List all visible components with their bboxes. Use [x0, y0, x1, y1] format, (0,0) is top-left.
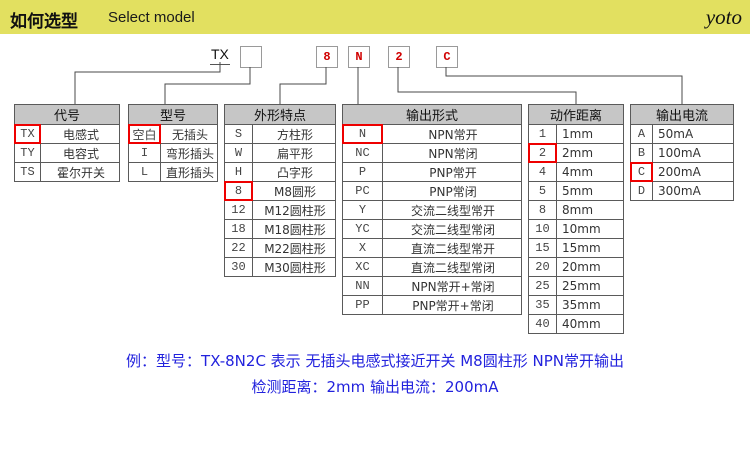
cell-desc: 交流二线型常闭: [383, 220, 522, 239]
brand-logo: yoto: [706, 5, 742, 30]
cell-desc: 交流二线型常开: [383, 201, 522, 220]
cell-desc: 300mA: [653, 182, 734, 201]
table-row: 35 35mm: [529, 296, 624, 315]
cell-desc: 4mm: [557, 163, 624, 182]
cell-code[interactable]: L: [129, 163, 161, 182]
cell-code[interactable]: 2: [529, 144, 557, 163]
code-box-shape: 8: [316, 46, 338, 68]
cell-code[interactable]: 15: [529, 239, 557, 258]
table-row: TS 霍尔开关: [15, 163, 120, 182]
table-body-output: N NPN常开 NC NPN常闭 P PNP常开 PC PNP常闭 Y 交流二线…: [343, 125, 522, 315]
cell-desc: 扁平形: [253, 144, 336, 163]
cell-code[interactable]: TS: [15, 163, 41, 182]
table-row: 30 M30圆柱形: [225, 258, 336, 277]
spec-table-output: 输出形式 N NPN常开 NC NPN常闭 P PNP常开 PC PNP常闭 Y…: [342, 104, 522, 315]
page-title-en: Select model: [108, 9, 195, 26]
spec-table-current: 输出电流 A 50mA B 100mA C 200mA D 300mA: [630, 104, 734, 201]
table-header-current: 输出电流: [631, 105, 734, 125]
cell-code[interactable]: Y: [343, 201, 383, 220]
table-header-output: 输出形式: [343, 105, 522, 125]
cell-code[interactable]: 5: [529, 182, 557, 201]
table-row: NC NPN常闭: [343, 144, 522, 163]
table-row: P PNP常开: [343, 163, 522, 182]
cell-code[interactable]: 8: [225, 182, 253, 201]
cell-desc: M22圆柱形: [253, 239, 336, 258]
code-box-model: [240, 46, 262, 68]
cell-code[interactable]: C: [631, 163, 653, 182]
cell-desc: 8mm: [557, 201, 624, 220]
table-row: W 扁平形: [225, 144, 336, 163]
cell-desc: 10mm: [557, 220, 624, 239]
table-row: 4 4mm: [529, 163, 624, 182]
table-row: D 300mA: [631, 182, 734, 201]
example-line-1: 例：型号：TX-8N2C 表示 无插头电感式接近开关 M8圆柱形 NPN常开输出: [0, 348, 750, 374]
table-row: X 直流二线型常开: [343, 239, 522, 258]
cell-desc: M30圆柱形: [253, 258, 336, 277]
table-row: 1 1mm: [529, 125, 624, 144]
table-row: XC 直流二线型常闭: [343, 258, 522, 277]
example-block: 例：型号：TX-8N2C 表示 无插头电感式接近开关 M8圆柱形 NPN常开输出…: [0, 348, 750, 400]
cell-desc: PNP常开+常闭: [383, 296, 522, 315]
cell-code[interactable]: 35: [529, 296, 557, 315]
cell-desc: 无插头: [160, 125, 217, 144]
cell-desc: 35mm: [557, 296, 624, 315]
cell-code[interactable]: 8: [529, 201, 557, 220]
table-row: 5 5mm: [529, 182, 624, 201]
table-row: C 200mA: [631, 163, 734, 182]
table-row: 10 10mm: [529, 220, 624, 239]
table-row: 15 15mm: [529, 239, 624, 258]
cell-desc: 直流二线型常开: [383, 239, 522, 258]
cell-code[interactable]: H: [225, 163, 253, 182]
cell-desc: 200mA: [653, 163, 734, 182]
cell-desc: 2mm: [557, 144, 624, 163]
cell-code[interactable]: W: [225, 144, 253, 163]
cell-desc: M18圆柱形: [253, 220, 336, 239]
model-code-row: [0, 34, 750, 64]
table-row: S 方柱形: [225, 125, 336, 144]
cell-code[interactable]: D: [631, 182, 653, 201]
code-token-prefix: TX: [210, 45, 230, 65]
cell-desc: NPN常闭: [383, 144, 522, 163]
table-row: NN NPN常开+常闭: [343, 277, 522, 296]
cell-desc: PNP常闭: [383, 182, 522, 201]
cell-code[interactable]: NC: [343, 144, 383, 163]
cell-code[interactable]: PC: [343, 182, 383, 201]
table-row: 8 M8圆形: [225, 182, 336, 201]
table-body-current: A 50mA B 100mA C 200mA D 300mA: [631, 125, 734, 201]
cell-desc: 20mm: [557, 258, 624, 277]
table-body-model: 空白 无插头 I 弯形插头 L 直形插头: [129, 125, 218, 182]
spec-table-code: 代号 TX 电感式 TY 电容式 TS 霍尔开关: [14, 104, 120, 182]
table-body-shape: S 方柱形 W 扁平形 H 凸字形 8 M8圆形 12 M12圆柱形 18 M1…: [225, 125, 336, 277]
table-row: H 凸字形: [225, 163, 336, 182]
cell-desc: 弯形插头: [160, 144, 217, 163]
cell-desc: PNP常开: [383, 163, 522, 182]
table-row: N NPN常开: [343, 125, 522, 144]
table-row: 2 2mm: [529, 144, 624, 163]
cell-code[interactable]: 12: [225, 201, 253, 220]
cell-desc: NPN常开+常闭: [383, 277, 522, 296]
table-row: 空白 无插头: [129, 125, 218, 144]
table-row: 40 40mm: [529, 315, 624, 334]
table-row: 8 8mm: [529, 201, 624, 220]
table-row: 20 20mm: [529, 258, 624, 277]
table-row: B 100mA: [631, 144, 734, 163]
table-row: YC 交流二线型常闭: [343, 220, 522, 239]
cell-code[interactable]: N: [343, 125, 383, 144]
cell-code[interactable]: TY: [15, 144, 41, 163]
table-row: TX 电感式: [15, 125, 120, 144]
cell-desc: 5mm: [557, 182, 624, 201]
cell-code[interactable]: 10: [529, 220, 557, 239]
cell-code[interactable]: 4: [529, 163, 557, 182]
table-row: A 50mA: [631, 125, 734, 144]
cell-desc: 100mA: [653, 144, 734, 163]
cell-desc: 电感式: [41, 125, 120, 144]
cell-desc: 25mm: [557, 277, 624, 296]
cell-desc: 直形插头: [160, 163, 217, 182]
cell-code[interactable]: 30: [225, 258, 253, 277]
cell-code[interactable]: S: [225, 125, 253, 144]
table-header-distance: 动作距离: [529, 105, 624, 125]
cell-code[interactable]: 18: [225, 220, 253, 239]
cell-desc: 电容式: [41, 144, 120, 163]
spec-table-distance: 动作距离 1 1mm 2 2mm 4 4mm 5 5mm 8 8mm 10 10…: [528, 104, 624, 334]
code-box-distance: 2: [388, 46, 410, 68]
cell-code[interactable]: YC: [343, 220, 383, 239]
table-row: 22 M22圆柱形: [225, 239, 336, 258]
table-header-code: 代号: [15, 105, 120, 125]
table-row: Y 交流二线型常开: [343, 201, 522, 220]
cell-code[interactable]: 40: [529, 315, 557, 334]
cell-code[interactable]: XC: [343, 258, 383, 277]
cell-desc: M8圆形: [253, 182, 336, 201]
cell-desc: 霍尔开关: [41, 163, 120, 182]
cell-desc: 40mm: [557, 315, 624, 334]
page-title-cn: 如何选型: [10, 7, 78, 32]
cell-desc: 凸字形: [253, 163, 336, 182]
cell-code[interactable]: NN: [343, 277, 383, 296]
cell-code[interactable]: TX: [15, 125, 41, 144]
table-body-code: TX 电感式 TY 电容式 TS 霍尔开关: [15, 125, 120, 182]
table-row: 12 M12圆柱形: [225, 201, 336, 220]
cell-code[interactable]: P: [343, 163, 383, 182]
cell-desc: 1mm: [557, 125, 624, 144]
spec-table-model: 型号 空白 无插头 I 弯形插头 L 直形插头: [128, 104, 218, 182]
table-header-shape: 外形特点: [225, 105, 336, 125]
cell-desc: 15mm: [557, 239, 624, 258]
table-row: L 直形插头: [129, 163, 218, 182]
cell-code[interactable]: 20: [529, 258, 557, 277]
cell-code[interactable]: 22: [225, 239, 253, 258]
cell-desc: 直流二线型常闭: [383, 258, 522, 277]
code-box-current: C: [436, 46, 458, 68]
table-row: 25 25mm: [529, 277, 624, 296]
code-box-output: N: [348, 46, 370, 68]
cell-code[interactable]: 空白: [129, 125, 161, 144]
cell-desc: NPN常开: [383, 125, 522, 144]
table-row: I 弯形插头: [129, 144, 218, 163]
table-row: PC PNP常闭: [343, 182, 522, 201]
spec-table-shape: 外形特点 S 方柱形 W 扁平形 H 凸字形 8 M8圆形 12 M12圆柱形 …: [224, 104, 336, 277]
cell-desc: 方柱形: [253, 125, 336, 144]
cell-desc: 50mA: [653, 125, 734, 144]
cell-desc: M12圆柱形: [253, 201, 336, 220]
cell-code[interactable]: PP: [343, 296, 383, 315]
cell-code[interactable]: B: [631, 144, 653, 163]
cell-code[interactable]: X: [343, 239, 383, 258]
table-row: 18 M18圆柱形: [225, 220, 336, 239]
cell-code[interactable]: I: [129, 144, 161, 163]
table-row: PP PNP常开+常闭: [343, 296, 522, 315]
table-row: TY 电容式: [15, 144, 120, 163]
example-line-2: 检测距离：2mm 输出电流：200mA: [0, 374, 750, 400]
cell-code[interactable]: 1: [529, 125, 557, 144]
cell-code[interactable]: 25: [529, 277, 557, 296]
cell-code[interactable]: A: [631, 125, 653, 144]
table-header-model: 型号: [129, 105, 218, 125]
table-body-distance: 1 1mm 2 2mm 4 4mm 5 5mm 8 8mm 10 10mm 15…: [529, 125, 624, 334]
